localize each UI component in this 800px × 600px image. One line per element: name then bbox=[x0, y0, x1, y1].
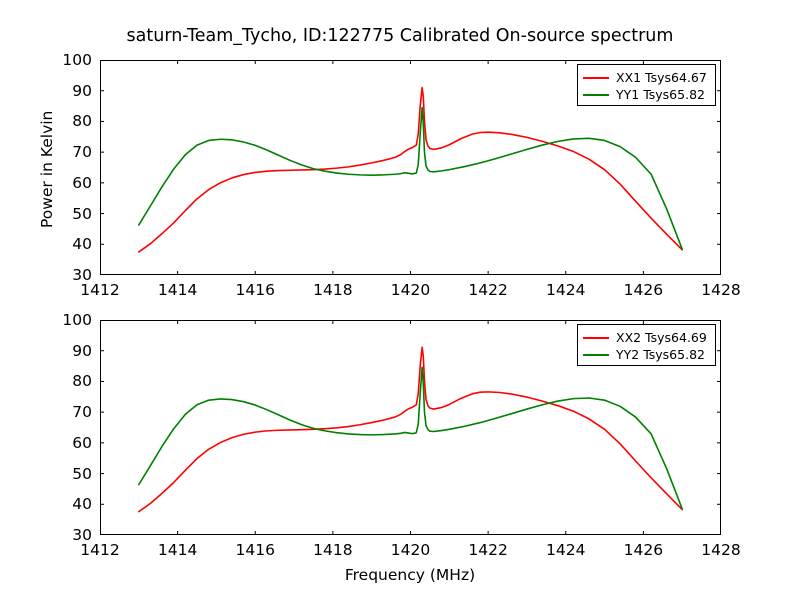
x-tick-label: 1424 bbox=[546, 541, 585, 559]
x-axis-title: Frequency (MHz) bbox=[345, 566, 475, 584]
x-tick-label: 1416 bbox=[236, 281, 275, 299]
legend-label: XX2 Tsys64.69 bbox=[616, 330, 707, 345]
x-tick-label: 1412 bbox=[80, 541, 119, 559]
y-axis-title-top: Power in Kelvin bbox=[38, 111, 56, 228]
y-tick-label: 80 bbox=[42, 372, 92, 390]
y-tick-label: 100 bbox=[42, 311, 92, 329]
y-tick-label: 90 bbox=[42, 342, 92, 360]
legend-item: XX1 Tsys64.67 bbox=[583, 69, 709, 86]
page-title: saturn-Team_Tycho, ID:122775 Calibrated … bbox=[0, 26, 800, 46]
x-tick-label: 1424 bbox=[546, 281, 585, 299]
x-tick-label: 1422 bbox=[468, 281, 507, 299]
x-tick-label: 1418 bbox=[313, 281, 352, 299]
y-tick-label: 100 bbox=[42, 51, 92, 69]
legend-top[interactable]: XX1 Tsys64.67YY1 Tsys65.82 bbox=[577, 64, 716, 106]
series-line bbox=[139, 108, 682, 250]
legend-color-swatch bbox=[583, 77, 609, 79]
y-tick-label: 90 bbox=[42, 82, 92, 100]
y-tick-label: 40 bbox=[42, 235, 92, 253]
legend-label: XX1 Tsys64.67 bbox=[616, 70, 707, 85]
y-tick-label: 60 bbox=[42, 434, 92, 452]
legend-item: YY2 Tsys65.82 bbox=[583, 346, 709, 363]
x-tick-label: 1420 bbox=[391, 541, 430, 559]
y-tick-label: 70 bbox=[42, 403, 92, 421]
figure-canvas: saturn-Team_Tycho, ID:122775 Calibrated … bbox=[0, 0, 800, 600]
legend-item: YY1 Tsys65.82 bbox=[583, 86, 709, 103]
x-tick-label: 1420 bbox=[391, 281, 430, 299]
legend-color-swatch bbox=[583, 337, 609, 339]
x-tick-label: 1422 bbox=[468, 541, 507, 559]
x-tick-label: 1418 bbox=[313, 541, 352, 559]
x-tick-label: 1414 bbox=[158, 541, 197, 559]
legend-label: YY2 Tsys65.82 bbox=[616, 347, 705, 362]
x-tick-label: 1414 bbox=[158, 281, 197, 299]
legend-item: XX2 Tsys64.69 bbox=[583, 329, 709, 346]
x-tick-label: 1426 bbox=[624, 541, 663, 559]
series-line bbox=[139, 367, 682, 509]
series-line bbox=[139, 88, 682, 252]
y-tick-label: 50 bbox=[42, 465, 92, 483]
x-tick-label: 1428 bbox=[701, 281, 740, 299]
x-tick-label: 1416 bbox=[236, 541, 275, 559]
legend-bottom[interactable]: XX2 Tsys64.69YY2 Tsys65.82 bbox=[577, 324, 716, 366]
legend-color-swatch bbox=[583, 354, 609, 356]
series-line bbox=[139, 347, 682, 511]
x-tick-label: 1428 bbox=[701, 541, 740, 559]
y-tick-label: 40 bbox=[42, 495, 92, 513]
x-tick-label: 1426 bbox=[624, 281, 663, 299]
legend-color-swatch bbox=[583, 94, 609, 96]
x-tick-label: 1412 bbox=[80, 281, 119, 299]
legend-label: YY1 Tsys65.82 bbox=[616, 87, 705, 102]
